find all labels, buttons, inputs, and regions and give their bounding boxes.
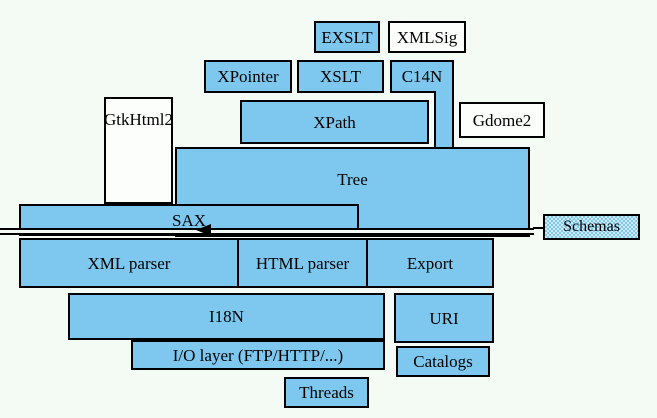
box-threads[interactable]: Threads [284, 377, 369, 408]
connector-c14n-to-tree [434, 91, 454, 149]
box-tree-label: Tree [337, 171, 368, 188]
box-gdome2[interactable]: Gdome2 [459, 102, 545, 138]
box-xpointer-label: XPointer [217, 68, 278, 85]
box-io-layer[interactable]: I/O layer (FTP/HTTP/...) [131, 340, 385, 370]
box-io-layer-label: I/O layer (FTP/HTTP/...) [173, 347, 343, 364]
box-threads-label: Threads [299, 384, 354, 401]
box-xmlsig[interactable]: XMLSig [388, 21, 466, 53]
arrow-schemas-head-icon [196, 224, 211, 236]
box-catalogs[interactable]: Catalogs [396, 346, 490, 377]
box-html-parser[interactable]: HTML parser [237, 238, 368, 288]
box-xml-parser-label: XML parser [88, 255, 171, 272]
box-exslt[interactable]: EXSLT [314, 21, 380, 53]
box-schemas-label: Schemas [563, 219, 620, 235]
box-gdome2-label: Gdome2 [473, 112, 532, 129]
box-c14n[interactable]: C14N [390, 60, 454, 93]
box-xml-parser[interactable]: XML parser [19, 238, 239, 288]
box-xslt[interactable]: XSLT [297, 60, 384, 93]
box-xpath[interactable]: XPath [240, 100, 429, 144]
box-xslt-label: XSLT [320, 68, 361, 85]
box-export[interactable]: Export [366, 238, 494, 288]
arrow-schemas-line [0, 228, 534, 235]
arrow-schemas-stub [533, 227, 545, 229]
box-i18n[interactable]: I18N [68, 293, 385, 340]
box-uri-label: URI [429, 310, 458, 327]
box-html-parser-label: HTML parser [256, 255, 349, 272]
box-export-label: Export [407, 255, 453, 272]
box-catalogs-label: Catalogs [413, 353, 473, 370]
box-gtkhtml2[interactable]: GtkHtml2 [104, 97, 173, 204]
box-c14n-label: C14N [402, 68, 443, 85]
box-xmlsig-label: XMLSig [397, 29, 457, 46]
box-uri[interactable]: URI [394, 293, 494, 343]
box-schemas[interactable]: Schemas [543, 214, 640, 240]
box-i18n-label: I18N [209, 308, 244, 325]
box-xpointer[interactable]: XPointer [204, 60, 292, 93]
box-xpath-label: XPath [313, 114, 356, 131]
architecture-diagram: EXSLT XMLSig XPointer XSLT C14N GtkHtml2… [0, 0, 657, 418]
box-gtkhtml2-label: GtkHtml2 [104, 111, 173, 128]
box-exslt-label: EXSLT [321, 29, 372, 46]
